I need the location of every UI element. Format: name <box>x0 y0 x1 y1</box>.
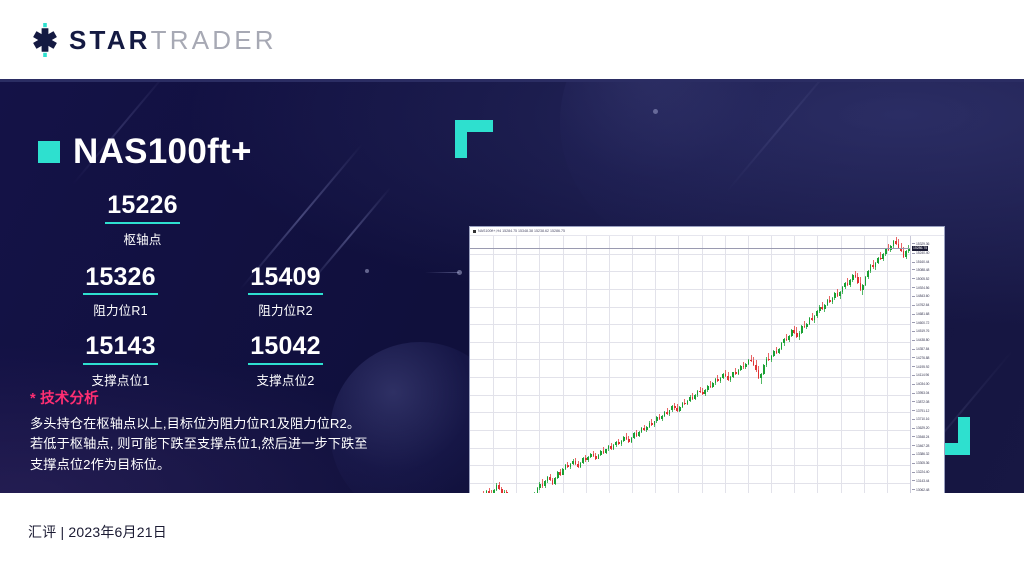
candle-body <box>760 374 762 378</box>
candle-body <box>707 386 709 391</box>
candle-body <box>646 427 648 430</box>
level-support-1: 15143 支撑点位1 <box>38 333 203 389</box>
price-axis-tick: 14600.72 <box>912 321 929 325</box>
price-axis-tick: 14114.96 <box>912 373 929 377</box>
price-axis-tick: 15160.44 <box>912 260 929 264</box>
candle-body <box>689 397 691 401</box>
current-price-badge: 15286.75 <box>912 246 928 251</box>
candle-body <box>806 324 808 328</box>
candle-body <box>809 318 811 323</box>
brand-logo[interactable]: STARTRADER <box>28 23 277 57</box>
candle-body <box>598 455 600 459</box>
chart-card[interactable]: NAS100ft+,H4 15284.75 15348.38 15238.62 … <box>469 226 945 493</box>
candle-body <box>656 417 658 421</box>
chart-gridline-horizontal <box>470 448 910 449</box>
candle-body <box>799 333 801 337</box>
price-axis-tick: 13143.44 <box>912 479 929 483</box>
candle-body <box>687 401 689 404</box>
chart-gridline-horizontal <box>470 483 910 484</box>
candle-body <box>880 258 882 259</box>
candle-body <box>600 451 602 455</box>
candle-body <box>857 277 859 282</box>
candle-body <box>763 365 765 374</box>
candle-body <box>847 283 849 285</box>
brand-wordmark: STARTRADER <box>69 27 277 53</box>
candle-body <box>801 326 803 333</box>
candle-body <box>786 339 788 340</box>
info-panel: NAS100ft+ 15226 枢轴点 15326 阻力位R1 15409 阻力… <box>0 82 440 493</box>
price-axis-tick: 13386.32 <box>912 452 929 456</box>
candle-body <box>816 311 818 316</box>
candle-body <box>651 423 653 425</box>
candle-body <box>872 265 874 267</box>
level-resistance-2: 15409 阻力位R2 <box>203 264 368 320</box>
candle-body <box>860 283 862 291</box>
chart-gridline-vertical <box>655 236 656 493</box>
chart-price-axis[interactable]: 15329.3615240.4015160.4415088.4815005.52… <box>910 236 945 493</box>
candle-body <box>720 378 722 381</box>
candle-body <box>615 442 617 445</box>
level-value: 15226 <box>105 192 180 224</box>
candle-body <box>788 336 790 341</box>
instrument-title-row: NAS100ft+ <box>38 134 252 169</box>
candle-body <box>743 366 745 367</box>
level-support-2: 15042 支撑点位2 <box>203 333 368 389</box>
level-value: 15326 <box>83 264 158 296</box>
candle-body <box>852 275 854 280</box>
chart-title-bar: NAS100ft+,H4 15284.75 15348.38 15238.62 … <box>470 227 945 236</box>
candle-body <box>771 356 773 360</box>
candle-body <box>552 480 554 484</box>
candle-body <box>804 326 806 327</box>
candle-body <box>631 438 633 442</box>
candle-body <box>580 463 582 467</box>
chart-gridline-vertical <box>539 236 540 493</box>
price-axis-tick: 14924.56 <box>912 286 929 290</box>
instrument-title: NAS100ft+ <box>73 134 252 169</box>
candle-body <box>613 445 615 448</box>
candle-body <box>755 365 757 370</box>
price-axis-tick: 14195.92 <box>912 365 929 369</box>
candle-body <box>753 361 755 365</box>
candle-body <box>659 417 661 419</box>
candle-body <box>905 251 907 256</box>
candle-body <box>842 287 844 292</box>
chart-gridline-horizontal <box>470 307 910 308</box>
price-axis-tick: 13062.48 <box>912 488 929 492</box>
chart-gridline-horizontal <box>470 271 910 272</box>
price-axis-tick: 13710.16 <box>912 417 929 421</box>
candle-body <box>740 366 742 370</box>
candle-body <box>855 275 857 277</box>
candle-body <box>870 265 872 270</box>
candle-body <box>697 391 699 395</box>
candle-body <box>554 478 556 484</box>
chart-gridline-horizontal <box>470 254 910 255</box>
candle-wick <box>700 387 701 394</box>
candle-body <box>608 446 610 449</box>
chart-title-text: NAS100ft+,H4 15284.75 15348.38 15238.62 … <box>478 229 565 233</box>
candle-body <box>717 379 719 381</box>
candle-body <box>636 433 638 435</box>
candle-body <box>773 351 775 356</box>
analysis-line-1: 多头持仓在枢轴点以上,目标位为阻力位R1及阻力位R2。 <box>30 414 430 434</box>
candle-body <box>849 280 851 284</box>
candle-body <box>669 410 671 413</box>
level-label: 阻力位R2 <box>203 300 368 319</box>
candle-body <box>567 465 569 467</box>
candle-body <box>837 293 839 295</box>
candle-body <box>898 244 900 248</box>
candle-body <box>694 395 696 398</box>
candle-body <box>654 421 656 424</box>
price-axis-tick: 14438.80 <box>912 338 929 342</box>
chart-bullet-icon <box>473 230 476 233</box>
page-footer: 汇评 | 2023年6月21日 <box>0 493 1024 576</box>
candle-body <box>865 277 867 285</box>
chart-gridline-vertical <box>678 236 679 493</box>
candle-body <box>603 451 605 453</box>
chart-gridline-vertical <box>817 236 818 493</box>
candle-body <box>768 359 770 360</box>
chart-gridline-horizontal <box>470 289 910 290</box>
candle-body <box>875 263 877 267</box>
price-axis-tick: 14357.84 <box>912 347 929 351</box>
candle-body <box>664 412 666 416</box>
candle-body <box>618 442 620 444</box>
candle-body <box>587 457 589 460</box>
candle-body <box>684 403 686 404</box>
analysis-line-2: 若低于枢轴点, 则可能下跌至支撑点位1,然后进一步下跌至 <box>30 434 430 454</box>
candle-body <box>682 403 684 407</box>
chart-plot-area[interactable] <box>470 236 910 493</box>
candle-body <box>893 241 895 245</box>
candle-body <box>572 461 574 464</box>
candle-body <box>565 465 567 469</box>
brand-name-light: TRADER <box>151 25 277 55</box>
candle-body <box>882 254 884 259</box>
candle-body <box>559 472 561 474</box>
candle-body <box>862 285 864 290</box>
chart-gridline-vertical <box>841 236 842 493</box>
candle-body <box>738 370 740 374</box>
candle-body <box>748 360 750 364</box>
candle-body <box>661 416 663 419</box>
candle-body <box>679 407 681 411</box>
chart-gridline-horizontal <box>470 465 910 466</box>
candle-body <box>593 454 595 456</box>
candle-body <box>557 472 559 477</box>
candle-body <box>783 339 785 343</box>
price-axis-tick: 13791.12 <box>912 409 929 413</box>
candle-body <box>778 349 780 353</box>
candle-body <box>710 386 712 387</box>
chart-gridline-vertical <box>493 236 494 493</box>
candle-body <box>821 307 823 309</box>
candle-body <box>626 437 628 439</box>
candle-body <box>641 428 643 432</box>
chart-gridline-horizontal <box>470 412 910 413</box>
candle-body <box>824 305 826 309</box>
candle-body <box>839 292 841 295</box>
candle-body <box>814 316 816 319</box>
candle-body <box>633 433 635 437</box>
candle-body <box>577 464 579 467</box>
chart-gridline-vertical <box>864 236 865 493</box>
level-value: 15042 <box>248 333 323 365</box>
candle-body <box>575 461 577 464</box>
price-axis-tick: 13224.40 <box>912 470 929 474</box>
chart-gridline-vertical <box>609 236 610 493</box>
price-axis-tick: 14762.64 <box>912 303 929 307</box>
candle-body <box>819 307 821 311</box>
price-axis-tick: 15088.48 <box>912 268 929 272</box>
candle-body <box>758 370 760 377</box>
price-axis-tick: 13548.24 <box>912 435 929 439</box>
corner-bracket-top-left <box>455 120 493 158</box>
candle-body <box>776 351 778 353</box>
candle-body <box>745 364 747 368</box>
candle-body <box>562 469 564 475</box>
brand-name-bold: STAR <box>69 25 151 55</box>
candle-body <box>498 485 500 489</box>
candle-body <box>623 437 625 441</box>
price-axis-tick: 14034.00 <box>912 382 929 386</box>
candle-body <box>649 423 651 427</box>
candle-body <box>676 408 678 410</box>
price-axis-tick: 14276.88 <box>912 356 929 360</box>
chart-gridline-horizontal <box>470 359 910 360</box>
candle-body <box>725 374 727 376</box>
candle-body <box>621 441 623 444</box>
candle-body <box>829 300 831 302</box>
candle-body <box>542 484 544 487</box>
level-label: 阻力位R1 <box>38 300 203 319</box>
level-pivot: 15226 枢轴点 <box>60 192 225 248</box>
candle-body <box>885 249 887 254</box>
candle-body <box>595 456 597 458</box>
price-axis-tick: 14519.76 <box>912 329 929 333</box>
candle-body <box>666 412 668 414</box>
candle-body <box>544 481 546 486</box>
candle-body <box>903 251 905 256</box>
chart-gridline-vertical <box>632 236 633 493</box>
candle-body <box>834 293 836 298</box>
candle-body <box>671 406 673 410</box>
candle-body <box>844 283 846 287</box>
analysis-block: * 技术分析 多头持仓在枢轴点以上,目标位为阻力位R1及阻力位R2。 若低于枢轴… <box>30 387 430 475</box>
price-axis-tick: 13872.08 <box>912 400 929 404</box>
level-value: 15143 <box>83 333 158 365</box>
candle-body <box>702 392 704 394</box>
candle-body <box>722 374 724 378</box>
chart-gridline-vertical <box>887 236 888 493</box>
chart-gridline-horizontal <box>470 324 910 325</box>
chart-gridline-vertical <box>702 236 703 493</box>
candle-body <box>877 258 879 263</box>
chart-gridline-horizontal <box>470 342 910 343</box>
level-label: 支撑点位2 <box>203 370 368 389</box>
candle-body <box>539 484 541 488</box>
candle-body <box>699 391 701 392</box>
candle-body <box>496 485 498 490</box>
levels-row-resistance: 15326 阻力位R1 15409 阻力位R2 <box>38 264 398 334</box>
candle-body <box>610 446 612 448</box>
price-axis-tick: 13629.20 <box>912 426 929 430</box>
price-axis-tick: 13953.04 <box>912 391 929 395</box>
title-square-icon <box>38 141 60 163</box>
candle-body <box>867 271 869 278</box>
candle-body <box>735 372 737 373</box>
price-axis-tick: 14843.60 <box>912 294 929 298</box>
candle-body <box>796 333 798 337</box>
candle-body <box>827 300 829 305</box>
candle-body <box>750 360 752 361</box>
candle-body <box>674 406 676 408</box>
main-stage: NAS100ft+ 15226 枢轴点 15326 阻力位R1 15409 阻力… <box>0 82 1024 493</box>
candle-body <box>582 458 584 463</box>
candle-body <box>638 432 640 435</box>
price-axis-tick: 14681.68 <box>912 312 929 316</box>
price-axis-tick: 13467.28 <box>912 444 929 448</box>
chart-gridline-vertical <box>771 236 772 493</box>
candle-body <box>605 449 607 452</box>
chart-gridline-horizontal <box>470 377 910 378</box>
candle-body <box>727 376 729 380</box>
star-asterisk-icon <box>28 23 62 57</box>
candle-body <box>549 477 551 480</box>
footer-caption: 汇评 | 2023年6月21日 <box>28 522 167 542</box>
candle-body <box>704 390 706 394</box>
chart-gridline-vertical <box>563 236 564 493</box>
candle-body <box>730 377 732 381</box>
level-label: 枢轴点 <box>60 229 225 248</box>
page-header: STARTRADER <box>0 0 1024 79</box>
analysis-heading: * 技术分析 <box>30 387 430 408</box>
chart-gridline-vertical <box>516 236 517 493</box>
candle-body <box>793 330 795 332</box>
chart-gridline-vertical <box>725 236 726 493</box>
analysis-line-3: 支撑点位2作为目标位。 <box>30 455 430 475</box>
candle-body <box>895 241 897 243</box>
chart-gridline-vertical <box>794 236 795 493</box>
candle-body <box>643 428 645 430</box>
level-label: 支撑点位1 <box>38 370 203 389</box>
candle-body <box>832 298 834 302</box>
candle-body <box>570 464 572 467</box>
candle-body <box>585 458 587 460</box>
candle-body <box>547 477 549 481</box>
candle-body <box>628 439 630 442</box>
price-axis-tick: 15005.52 <box>912 277 929 281</box>
chart-gridline-horizontal <box>470 430 910 431</box>
candle-body <box>766 359 768 366</box>
candle-body <box>692 397 694 399</box>
levels-group: 15226 枢轴点 15326 阻力位R1 15409 阻力位R2 15143 … <box>38 192 398 403</box>
level-value: 15409 <box>248 264 323 296</box>
candle-body <box>712 383 714 387</box>
candle-body <box>781 343 783 348</box>
candle-body <box>791 330 793 335</box>
candle-body <box>732 372 734 376</box>
level-resistance-1: 15326 阻力位R1 <box>38 264 203 320</box>
price-axis-tick: 15240.40 <box>912 251 929 255</box>
candle-body <box>590 454 592 457</box>
candle-body <box>811 318 813 319</box>
current-price-line <box>470 248 910 249</box>
candle-body <box>715 379 717 383</box>
price-axis-tick: 13305.36 <box>912 461 929 465</box>
